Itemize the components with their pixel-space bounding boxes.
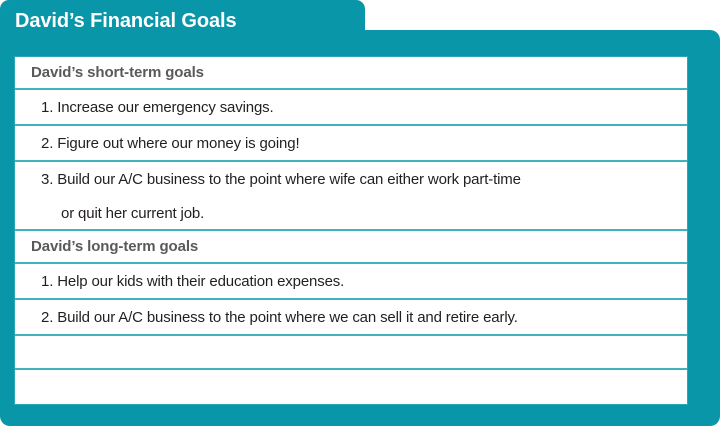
empty-row[interactable] — [15, 370, 687, 404]
goal-text-continuation: or quit her current job. — [31, 197, 679, 231]
goals-table: David’s short-term goals1. Increase our … — [14, 56, 688, 405]
financial-goals-screen: David’s Financial Goals David’s short-te… — [0, 0, 720, 426]
goal-row: 2. Build our A/C business to the point w… — [15, 300, 687, 336]
goal-row: 1. Help our kids with their education ex… — [15, 264, 687, 300]
goal-row: 1. Increase our emergency savings. — [15, 90, 687, 126]
empty-row[interactable] — [15, 336, 687, 370]
page-title: David’s Financial Goals — [0, 11, 236, 31]
section-header-row: David’s long-term goals — [15, 231, 687, 264]
goal-text: 1. Increase our emergency savings. — [31, 99, 274, 116]
section-header-row: David’s short-term goals — [15, 57, 687, 90]
goal-row: 3. Build our A/C business to the point w… — [15, 162, 687, 231]
section-header-label: David’s short-term goals — [31, 64, 204, 81]
section-header-label: David’s long-term goals — [31, 238, 198, 255]
goal-text: 2. Figure out where our money is going! — [31, 135, 299, 152]
goal-row: 2. Figure out where our money is going! — [15, 126, 687, 162]
title-tab: David’s Financial Goals — [0, 0, 365, 42]
goal-text: 1. Help our kids with their education ex… — [31, 273, 344, 290]
goal-text: 3. Build our A/C business to the point w… — [31, 163, 679, 197]
goal-text: 2. Build our A/C business to the point w… — [31, 309, 518, 326]
